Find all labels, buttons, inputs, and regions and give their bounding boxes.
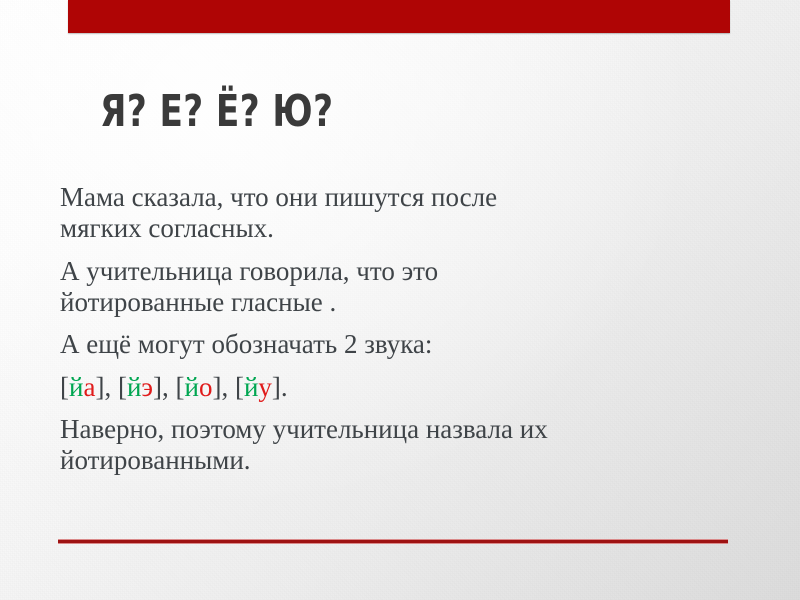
vowel-letter: а [83,372,95,402]
paragraph-two-sounds: А ещё могут обозначать 2 звука: [60,329,700,360]
transcription-item-yu: [йу]. [235,372,288,402]
page-title: Я? Е? Ё? Ю? [100,90,333,134]
transcription-item-ya: [йа], [60,372,118,402]
paragraph-conclusion: Наверно, поэтому учительница назвала их … [60,414,708,477]
glide-letter: й [244,372,258,402]
bottom-red-rule [58,539,728,544]
bracket-open: [ [235,372,244,402]
bracket-open: [ [118,372,127,402]
vowel-letter: у [258,372,272,402]
glide-letter: й [184,372,198,402]
transcription-item-ye: [йэ], [118,372,176,402]
transcription-item-yo: [йо], [175,372,234,402]
glide-letter: й [127,372,141,402]
top-red-banner [68,0,730,33]
bracket-close: ] [153,372,162,402]
body-text-block: Мама сказала, что они пишутся после мягк… [60,182,740,488]
vowel-letter: э [141,372,153,402]
separator: . [281,372,288,402]
separator: , [162,372,176,402]
paragraph-mother-said: Мама сказала, что они пишутся после мягк… [60,182,550,245]
slide-canvas: Я? Е? Ё? Ю? Мама сказала, что они пишутс… [0,0,800,600]
separator: , [104,372,118,402]
transcription-line: [йа], [йэ], [йо], [йу]. [60,372,740,403]
bracket-open: [ [60,372,69,402]
separator: , [221,372,235,402]
paragraph-teacher-said: А учительница говорила, что это йотирова… [60,256,560,319]
glide-letter: й [69,372,83,402]
vowel-letter: о [199,372,213,402]
bracket-close: ] [272,372,281,402]
